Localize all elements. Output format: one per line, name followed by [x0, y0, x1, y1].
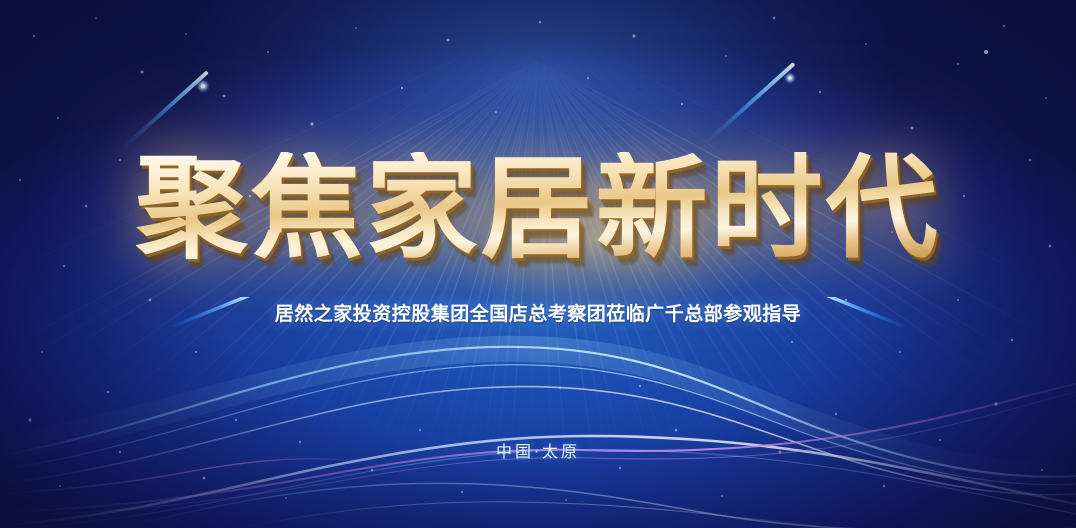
- page-title: 聚焦家居新时代: [136, 152, 941, 266]
- main-title-block: 聚焦家居新时代: [0, 152, 1076, 266]
- subtitle-block: 居然之家投资控股集团全国店总考察团莅临广千总部参观指导: [0, 296, 1076, 328]
- event-location: 中国·太原: [0, 438, 1076, 462]
- subtitle: 居然之家投资控股集团全国店总考察团莅临广千总部参观指导: [269, 299, 808, 326]
- light-streak-left-icon: [149, 297, 269, 327]
- promotional-banner: 聚焦家居新时代 居然之家投资控股集团全国店总考察团莅临广千总部参观指导: [0, 0, 1076, 528]
- light-streak-right-icon: [807, 297, 927, 327]
- banner-content: 聚焦家居新时代 居然之家投资控股集团全国店总考察团莅临广千总部参观指导: [0, 0, 1076, 528]
